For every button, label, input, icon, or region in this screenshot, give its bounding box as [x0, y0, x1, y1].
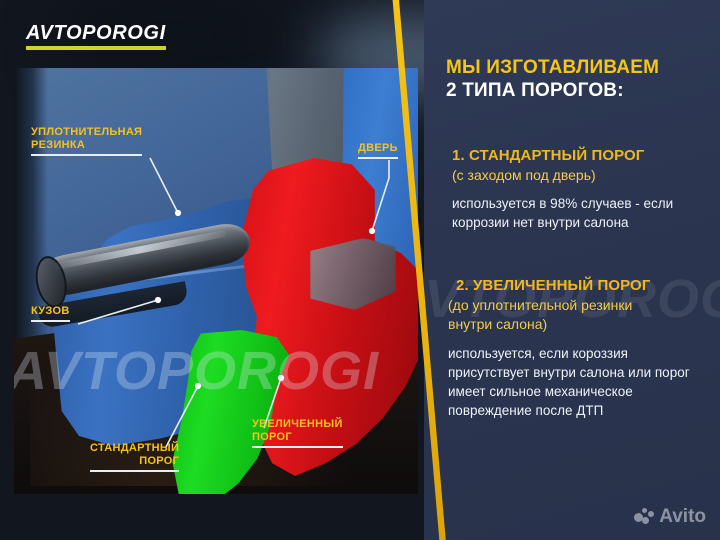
callout-seal: УПЛОТНИТЕЛЬНАЯ РЕЗИНКА: [31, 126, 142, 156]
callout-door: ДВЕРЬ: [358, 142, 398, 159]
callout-door-label: ДВЕРЬ: [358, 142, 398, 155]
callout-seal-line1: УПЛОТНИТЕЛЬНАЯ: [31, 126, 142, 139]
brand-logo-text: AVTOPOROGI: [26, 22, 166, 44]
section-enlarged-sill: 2. УВЕЛИЧЕННЫЙ ПОРОГ (до уплотнительной …: [446, 276, 706, 420]
callout-standard-line1: СТАНДАРТНЫЙ: [90, 442, 179, 455]
callout-seal-underline: [31, 154, 142, 156]
panel-heading: МЫ ИЗГОТАВЛИВАЕМ 2 ТИПА ПОРОГОВ:: [446, 56, 706, 102]
callout-body-underline: [31, 320, 70, 322]
callout-enlarged-underline: [252, 446, 343, 448]
panel-heading-line2: 2 ТИПА ПОРОГОВ:: [446, 79, 706, 102]
callout-enlarged-sill: УВЕЛИЧЕННЫЙ ПОРОГ: [252, 418, 343, 448]
brand-logo-underline: [26, 46, 166, 50]
avito-wordmark: Avito: [659, 507, 706, 526]
callout-standard-line2: ПОРОГ: [90, 455, 179, 468]
info-panel: AVTOPOROGI МЫ ИЗГОТАВЛИВАЕМ 2 ТИПА ПОРОГ…: [424, 0, 720, 540]
section-standard-title: 1. СТАНДАРТНЫЙ ПОРОГ: [446, 146, 706, 166]
callout-body-label: КУЗОВ: [31, 305, 70, 318]
section-enlarged-body: используется, если короззия присутствует…: [446, 344, 706, 420]
section-enlarged-subtitle-line2: внутри салона): [446, 315, 706, 334]
callout-door-underline: [358, 157, 398, 159]
callout-enlarged-line1: УВЕЛИЧЕННЫЙ: [252, 418, 343, 431]
avito-watermark: Avito: [634, 507, 706, 526]
section-enlarged-title: 2. УВЕЛИЧЕННЫЙ ПОРОГ: [446, 276, 706, 296]
section-standard-subtitle: (с заходом под дверь): [446, 166, 706, 185]
callout-body: КУЗОВ: [31, 305, 70, 322]
brand-logo: AVTOPOROGI: [26, 22, 166, 50]
avito-logo-icon: [634, 508, 654, 525]
promo-image: AVTOPOROGI УПЛОТНИТЕЛЬНАЯ РЕЗИНКА: [0, 0, 720, 540]
callout-enlarged-line2: ПОРОГ: [252, 431, 343, 444]
callout-seal-line2: РЕЗИНКА: [31, 139, 142, 152]
section-enlarged-subtitle-line1: (до уплотнительной резинки: [446, 296, 706, 315]
callout-standard-underline: [90, 470, 179, 472]
section-standard-sill: 1. СТАНДАРТНЫЙ ПОРОГ (с заходом под двер…: [446, 146, 706, 232]
callout-standard-sill: СТАНДАРТНЫЙ ПОРОГ: [90, 442, 179, 472]
panel-heading-line1: МЫ ИЗГОТАВЛИВАЕМ: [446, 56, 706, 79]
section-standard-body: используется в 98% случаев - если корроз…: [446, 194, 706, 232]
